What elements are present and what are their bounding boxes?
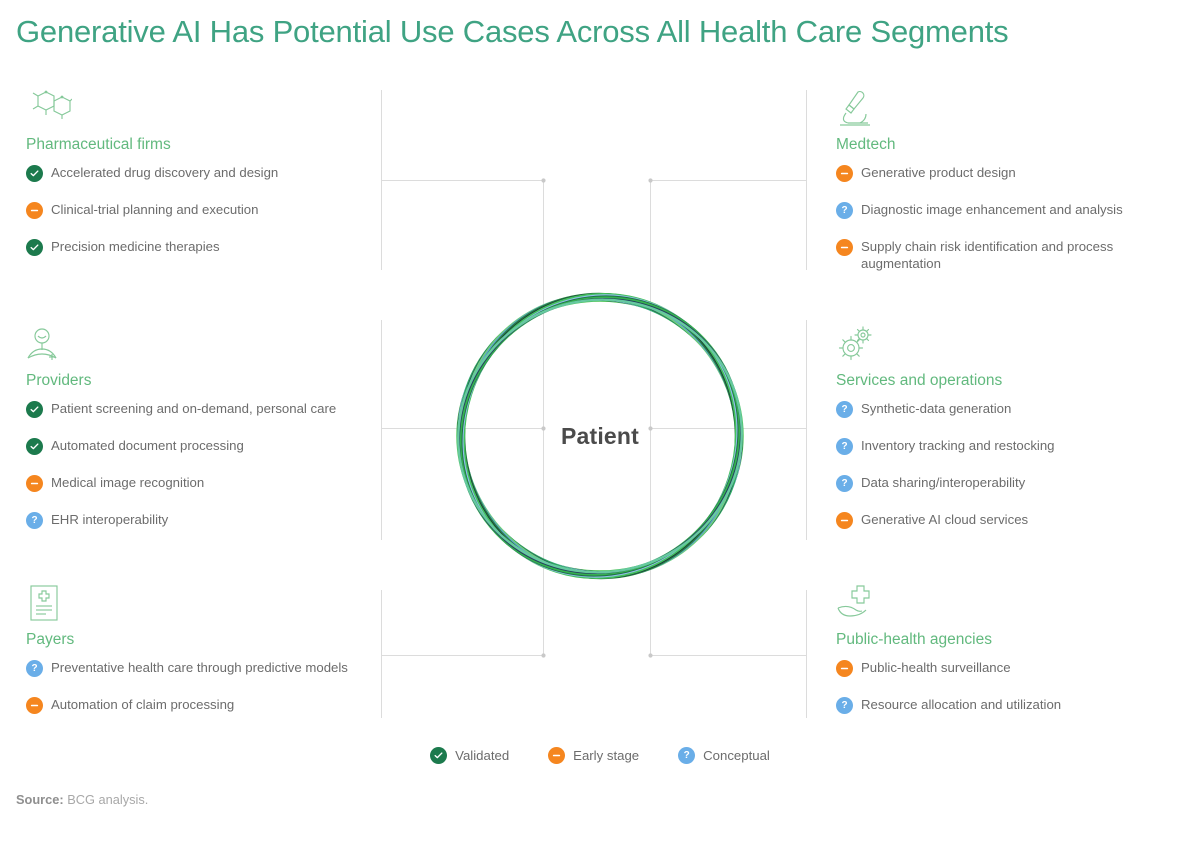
item-label: Automation of claim processing [51,697,234,712]
status-badge-validated [26,438,43,455]
doctor-icon [26,324,72,364]
patient-label: Patient [447,283,753,589]
list-item: Automated document processing [26,437,376,458]
segment-title: Public-health agencies [836,631,992,649]
segment-title: Providers [26,372,91,390]
status-badge-validated [26,401,43,418]
status-badge-validated [26,239,43,256]
list-item: Medical image recognition [26,474,376,495]
list-item: Generative AI cloud services [836,511,1191,532]
question-mark-icon: ? [31,516,37,526]
segment-items: Generative product design ? Diagnostic i… [836,164,1191,272]
source-label: Source: [16,792,64,807]
list-item: ? EHR interoperability [26,511,376,532]
legend-label: Validated [455,748,509,763]
list-item: ? Resource allocation and utilization [836,696,1191,717]
list-item: Precision medicine therapies [26,238,376,259]
segment-items: Patient screening and on-demand, persona… [26,400,376,532]
medical-document-icon [26,583,72,623]
status-badge-validated [430,747,447,764]
status-badge-early [26,202,43,219]
list-item: Clinical-trial planning and execution [26,201,376,222]
segment-items: Public-health surveillance ? Resource al… [836,659,1191,717]
segment-title: Services and operations [836,372,1002,390]
item-label: Inventory tracking and restocking [861,438,1055,453]
question-mark-icon: ? [841,442,847,452]
status-badge-early [26,475,43,492]
status-badge-conceptual: ? [836,438,853,455]
list-item: ? Data sharing/interoperability [836,474,1191,495]
item-label: Automated document processing [51,438,244,453]
microscope-icon [836,88,882,128]
page-title: Generative AI Has Potential Use Cases Ac… [16,14,1008,50]
segment-title: Pharmaceutical firms [26,136,171,154]
status-badge-conceptual: ? [836,401,853,418]
item-label: Generative product design [861,165,1016,180]
legend-label: Early stage [573,748,639,763]
status-badge-conceptual: ? [678,747,695,764]
list-item: Supply chain risk identification and pro… [836,238,1191,272]
gears-icon [836,324,882,364]
segment-items: ? Synthetic-data generation ? Inventory … [836,400,1191,532]
molecule-icon [26,88,72,128]
status-badge-conceptual: ? [836,697,853,714]
item-label: Preventative health care through predict… [51,660,348,675]
legend-item-validated: Validated [430,747,509,764]
status-badge-conceptual: ? [26,512,43,529]
question-mark-icon: ? [31,664,37,674]
list-item: Public-health surveillance [836,659,1191,680]
item-label: Diagnostic image enhancement and analysi… [861,202,1123,217]
infographic-page: Generative AI Has Potential Use Cases Ac… [0,0,1200,848]
list-item: Generative product design [836,164,1191,185]
item-label: Public-health surveillance [861,660,1011,675]
status-badge-early [836,660,853,677]
item-label: Resource allocation and utilization [861,697,1061,712]
list-item: ? Preventative health care through predi… [26,659,376,680]
question-mark-icon: ? [841,701,847,711]
list-item: Automation of claim processing [26,696,376,717]
source-note: Source: BCG analysis. [16,792,148,807]
legend-label: Conceptual [703,748,770,763]
item-label: Generative AI cloud services [861,512,1028,527]
status-badge-conceptual: ? [836,202,853,219]
question-mark-icon: ? [684,751,690,761]
item-label: Accelerated drug discovery and design [51,165,278,180]
legend-item-early-stage: Early stage [548,747,639,764]
question-mark-icon: ? [841,479,847,489]
item-label: Precision medicine therapies [51,239,220,254]
status-badge-conceptual: ? [836,475,853,492]
status-badge-early [548,747,565,764]
item-label: EHR interoperability [51,512,168,527]
segment-title: Payers [26,631,74,649]
question-mark-icon: ? [841,206,847,216]
list-item: ? Inventory tracking and restocking [836,437,1191,458]
segment-title: Medtech [836,136,895,154]
legend: Validated Early stage ? Conceptual [0,747,1200,764]
status-badge-early [836,512,853,529]
list-item: Patient screening and on-demand, persona… [26,400,376,421]
status-badge-early [26,697,43,714]
segment-items: Accelerated drug discovery and design Cl… [26,164,376,259]
list-item: ? Synthetic-data generation [836,400,1191,421]
list-item: ? Diagnostic image enhancement and analy… [836,201,1191,222]
item-label: Data sharing/interoperability [861,475,1025,490]
item-label: Clinical-trial planning and execution [51,202,258,217]
status-badge-validated [26,165,43,182]
item-label: Synthetic-data generation [861,401,1011,416]
list-item: Accelerated drug discovery and design [26,164,376,185]
item-label: Patient screening and on-demand, persona… [51,401,336,416]
source-text: BCG analysis. [67,792,148,807]
item-label: Medical image recognition [51,475,204,490]
status-badge-early [836,239,853,256]
patient-hub: Patient [447,283,753,589]
status-badge-conceptual: ? [26,660,43,677]
status-badge-early [836,165,853,182]
item-label: Supply chain risk identification and pro… [861,239,1113,271]
question-mark-icon: ? [841,405,847,415]
legend-item-conceptual: ? Conceptual [678,747,770,764]
hand-cross-icon [836,583,882,623]
segment-items: ? Preventative health care through predi… [26,659,376,717]
